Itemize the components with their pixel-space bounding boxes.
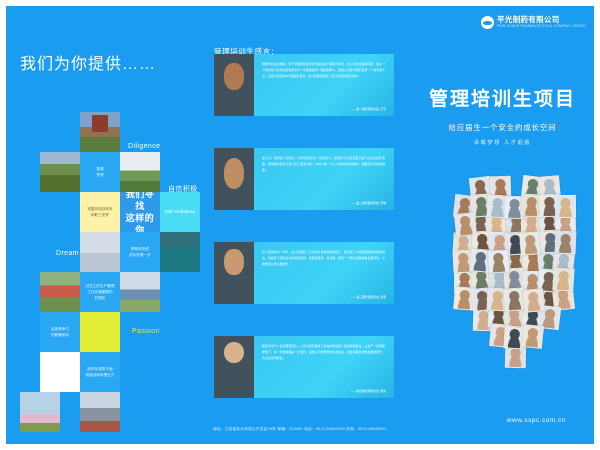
collage-photo-face [504, 289, 524, 311]
collage-photo [453, 212, 476, 237]
word-self-positive: 自信积极 [168, 184, 198, 194]
mosaic-caption-tile: 助你乐观勇于面 临挑战和承受压力 [80, 352, 120, 392]
collage-photo-face [489, 251, 509, 273]
company-logo: 平光制药有限公司 PING GUANG PHARMACEUTICAL COMPA… [481, 16, 586, 29]
testimonial-text: 初入职场的这一年半，在公司搭建了平台和众多前辈的帮助下，我完成了从校园到职场的角… [262, 249, 385, 267]
mosaic-photo-tile [80, 392, 120, 432]
mosaic-accent-tile [80, 312, 120, 352]
collage-photo-face [523, 289, 544, 312]
tile-caption: 激情 梦想 [80, 152, 120, 192]
mosaic-caption-tile: 帮助你完成 成功的第一步 [120, 232, 160, 272]
collage-photo-face [455, 213, 476, 236]
collage-photo [521, 324, 544, 349]
tile-caption-line: 好团队 [95, 295, 106, 301]
logo-text: 平光制药有限公司 PING GUANG PHARMACEUTICAL COMPA… [497, 16, 586, 28]
mosaic-photo-tile [80, 232, 120, 272]
mosaic-photo-tile [20, 392, 60, 432]
collage-photo-face [522, 325, 543, 348]
mosaic-photo-tile [160, 232, 200, 272]
word-diligence: Diligence [128, 143, 160, 150]
testimonial-signature: ——第一期管理培训生 王宇 [351, 107, 387, 111]
tile-caption-line: 梦想 [96, 172, 103, 178]
collage-photo-face [520, 232, 540, 255]
word-dream: Dream [56, 250, 79, 257]
logo-name-cn: 平光制药有限公司 [497, 16, 586, 24]
program-title: 管理培训生项目 [410, 84, 594, 111]
word-self-confidence: Self confidence [160, 192, 200, 232]
mosaic-photo-tile [120, 152, 160, 192]
collage-photo [552, 267, 574, 292]
collage-photo [488, 249, 510, 273]
testimonial-body: 在公司，我学会了如何从一名学生转变为一名职场人。轮岗实习让我全面了解了企业的运作… [254, 148, 394, 210]
tile-caption: 足具竞争力 的薪酬体系 [40, 312, 80, 352]
mosaic-caption-tile: 完善的培训体系 和职工关怀 [80, 192, 120, 232]
testimonial-photo [214, 54, 254, 116]
testimonial-card: 在公司，我学会了如何从一名学生转变为一名职场人。轮岗实习让我全面了解了企业的运作… [214, 148, 394, 210]
collage-photo [554, 195, 575, 219]
footer-contact: 地址：江苏省苏州市昆山开发区38号 邮编：214400 电话：0512-8596… [6, 427, 594, 432]
brochure-canvas: 平光制药有限公司 PING GUANG PHARMACEUTICAL COMPA… [6, 6, 594, 444]
collage-photo [554, 230, 576, 254]
collage-photo [519, 231, 542, 256]
word-passion: Passion [132, 328, 160, 335]
testimonial-card: 刚刚毕业走出校园，对于管理培训生的身份我充满了期待与好奇，在公司的这段时间里，我… [214, 54, 394, 116]
testimonial-body: 刚刚毕业走出校园，对于管理培训生的身份我充满了期待与好奇，在公司的这段时间里，我… [254, 54, 394, 116]
center-slogan-line: 这样的你 [122, 212, 158, 232]
testimonial-signature: ——第二期管理培训生 李琳 [351, 201, 387, 205]
testimonial-photo [214, 148, 254, 210]
tile-caption: 对员工的生产管理 工作充满激情的 好团队 [80, 272, 120, 312]
tile-caption: 完善的培训体系 和职工关怀 [80, 192, 120, 232]
tile-caption-line: 和职工关怀 [91, 212, 109, 218]
mosaic-photo-tile [80, 112, 120, 152]
testimonial-card: 很庆幸成为一名管理培训生，公司为我们提供了系统的培训和广阔的实践舞台。从生产一线… [214, 336, 394, 398]
tile-caption: 帮助你完成 成功的第一步 [120, 232, 160, 272]
mosaic-caption-tile: 对员工的生产管理 工作充满激情的 好团队 [80, 272, 120, 312]
heart-shaped-employee-photo-collage [438, 176, 588, 381]
testimonial-body: 初入职场的这一年半，在公司搭建了平台和众多前辈的帮助下，我完成了从校园到职场的角… [254, 242, 394, 304]
website-url: www.sspc.com.cn [507, 417, 566, 424]
collage-photo-face [553, 268, 573, 290]
testimonial-text: 在公司，我学会了如何从一名学生转变为一名职场人。轮岗实习让我全面了解了企业的运作… [262, 155, 385, 173]
brochure-page: 平光制药有限公司 PING GUANG PHARMACEUTICAL COMPA… [0, 0, 600, 450]
testimonial-body: 很庆幸成为一名管理培训生，公司为我们提供了系统的培训和广阔的实践舞台。从生产一线… [254, 336, 394, 398]
mosaic-photo-tile [40, 152, 80, 192]
mosaic-word-tile-self-confidence: Self confidence [160, 192, 200, 232]
collage-photo-face [556, 231, 576, 253]
testimonial-text: 很庆幸成为一名管理培训生，公司为我们提供了系统的培训和广阔的实践舞台。从生产一线… [262, 343, 385, 361]
eye-swoosh-logo-icon [481, 16, 494, 29]
center-slogan: 我们寻找 这样的你 [120, 192, 160, 232]
testimonial-signature: ——第四期管理培训生 陈怡 [351, 389, 387, 393]
mosaic-photo-tile [40, 272, 80, 312]
tile-caption-line: 的薪酬体系 [51, 332, 69, 338]
program-tagline: 承载梦想 人才起航 [410, 139, 594, 146]
testimonial-photo [214, 242, 254, 304]
testimonial-signature: ——第三期管理培训生 张萌 [351, 295, 387, 299]
mosaic-center-slogan-tile: 我们寻找 这样的你 [120, 192, 160, 232]
mosaic-photo-tile [120, 272, 160, 312]
testimonial-card: 初入职场的这一年半，在公司搭建了平台和众多前辈的帮助下，我完成了从校园到职场的角… [214, 242, 394, 304]
tile-caption: 助你乐观勇于面 临挑战和承受压力 [80, 352, 120, 392]
tile-caption-line: 临挑战和承受压力 [86, 372, 115, 378]
collage-photo-face [555, 196, 574, 218]
tile-caption-line: 成功的第一步 [129, 252, 151, 258]
left-panel-heading: 我们为你提供…… [20, 50, 156, 74]
logo-name-en: PING GUANG PHARMACEUTICAL COMPANY LIMITE… [497, 25, 586, 28]
program-subtitle: 给应届生一个安全的成长空间 [410, 122, 594, 133]
mosaic-caption-tile: 足具竞争力 的薪酬体系 [40, 312, 80, 352]
collage-photo [522, 288, 545, 313]
center-slogan-line: 我们寻找 [122, 192, 158, 212]
testimonial-photo [214, 336, 254, 398]
testimonial-text: 刚刚毕业走出校园，对于管理培训生的身份我充满了期待与好奇，在公司的这段时间里，我… [262, 61, 385, 79]
mosaic-caption-tile: 激情 梦想 [80, 152, 120, 192]
mosaic-blank-tile [40, 352, 80, 392]
